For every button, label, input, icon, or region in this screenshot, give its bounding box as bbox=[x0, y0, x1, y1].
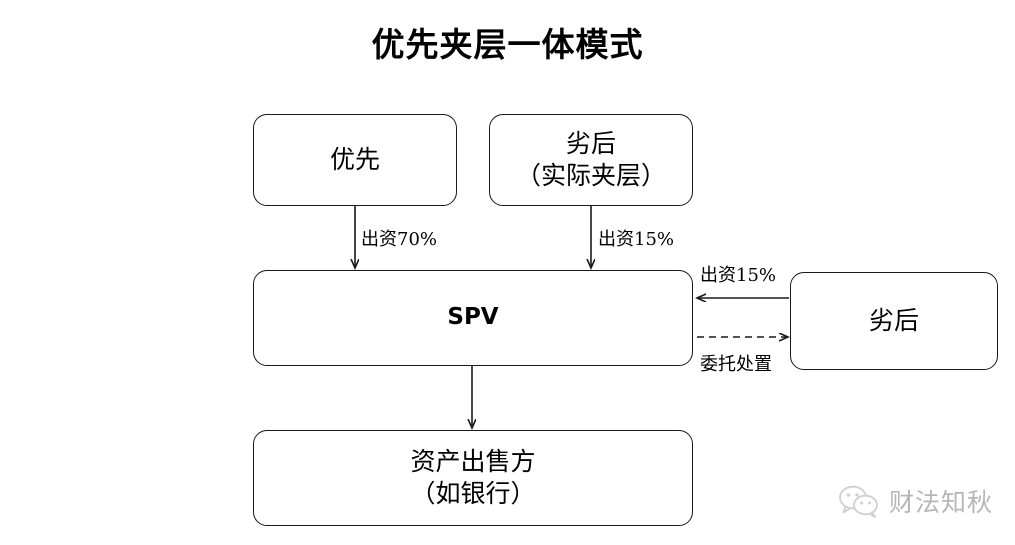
node-spv-label: SPV bbox=[447, 303, 498, 332]
node-senior[interactable]: 优先 bbox=[253, 114, 457, 206]
edge-label-entrusted-disposal: 委托处置 bbox=[700, 350, 772, 376]
wechat-icon bbox=[838, 485, 880, 518]
node-senior-label: 优先 bbox=[330, 144, 380, 176]
node-junior[interactable]: 劣后 bbox=[790, 272, 998, 370]
diagram-canvas: 优先夹层一体模式 优先 劣后 （实际夹层） bbox=[0, 0, 1015, 545]
page-title: 优先夹层一体模式 bbox=[0, 18, 1015, 66]
edge-label-junior-contribution: 出资15% bbox=[700, 261, 776, 287]
watermark: 财法知秋 bbox=[838, 483, 993, 519]
node-junior-mezzanine-label: 劣后 （实际夹层） bbox=[516, 128, 666, 192]
edge-label-mezzanine-contribution: 出资15% bbox=[598, 225, 674, 251]
node-junior-label: 劣后 bbox=[869, 305, 919, 337]
node-asset-seller-label: 资产出售方 （如银行） bbox=[410, 446, 535, 510]
node-junior-mezzanine[interactable]: 劣后 （实际夹层） bbox=[489, 114, 693, 206]
node-spv[interactable]: SPV bbox=[253, 270, 693, 366]
node-asset-seller[interactable]: 资产出售方 （如银行） bbox=[253, 430, 693, 526]
edge-label-senior-contribution: 出资70% bbox=[361, 225, 437, 251]
watermark-text: 财法知秋 bbox=[889, 483, 993, 519]
